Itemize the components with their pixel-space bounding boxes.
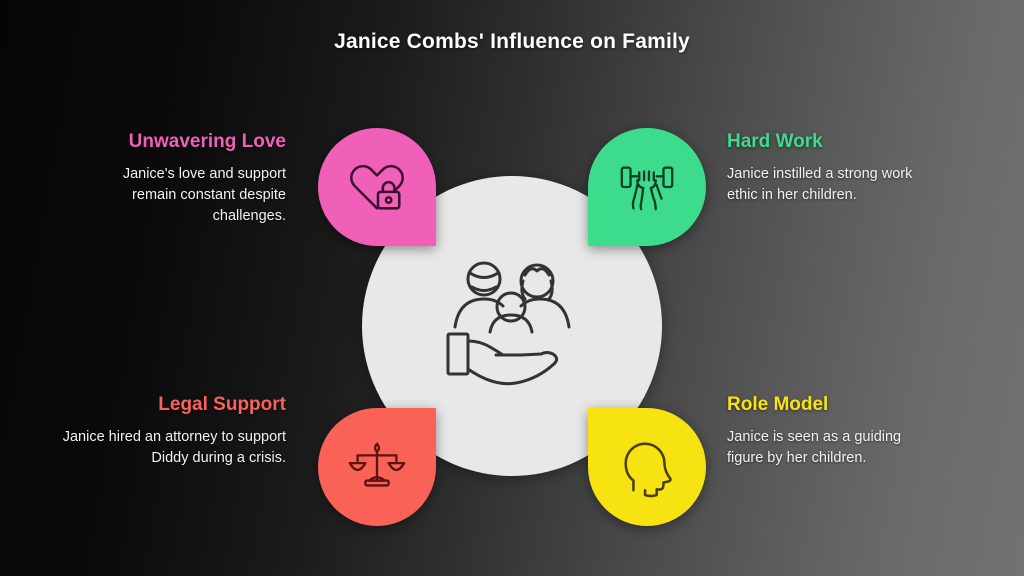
quadrant-heading-role-model: Role Model [727, 395, 967, 416]
page-title: Janice Combs' Influence on Family [0, 30, 1024, 54]
heart-lock-icon [346, 156, 408, 218]
quadrant-body-legal-support: Janice hired an attorney to support Didd… [46, 427, 286, 469]
petal-role-model[interactable] [588, 408, 706, 526]
quadrant-text-hard-work: Hard Work Janice instilled a strong work… [727, 132, 967, 206]
petal-legal-support[interactable] [318, 408, 436, 526]
quadrant-heading-legal-support: Legal Support [46, 395, 286, 416]
scales-of-justice-icon [346, 436, 408, 498]
hand-dumbbell-icon [616, 156, 678, 218]
quadrant-body-role-model: Janice is seen as a guiding figure by he… [727, 427, 917, 469]
quadrant-text-unwavering-love: Unwavering Love Janice's love and suppor… [46, 132, 286, 227]
quadrant-heading-hard-work: Hard Work [727, 132, 967, 153]
head-profile-icon [616, 436, 678, 498]
quadrant-text-role-model: Role Model Janice is seen as a guiding f… [727, 395, 967, 469]
family-in-hand-icon [437, 251, 587, 401]
petal-hard-work[interactable] [588, 128, 706, 246]
quadrant-heading-unwavering-love: Unwavering Love [46, 132, 286, 153]
quadrant-text-legal-support: Legal Support Janice hired an attorney t… [46, 395, 286, 469]
quadrant-body-unwavering-love: Janice's love and support remain constan… [91, 164, 286, 227]
petal-unwavering-love[interactable] [318, 128, 436, 246]
infographic-stage [300, 120, 724, 544]
quadrant-body-hard-work: Janice instilled a strong work ethic in … [727, 164, 942, 206]
